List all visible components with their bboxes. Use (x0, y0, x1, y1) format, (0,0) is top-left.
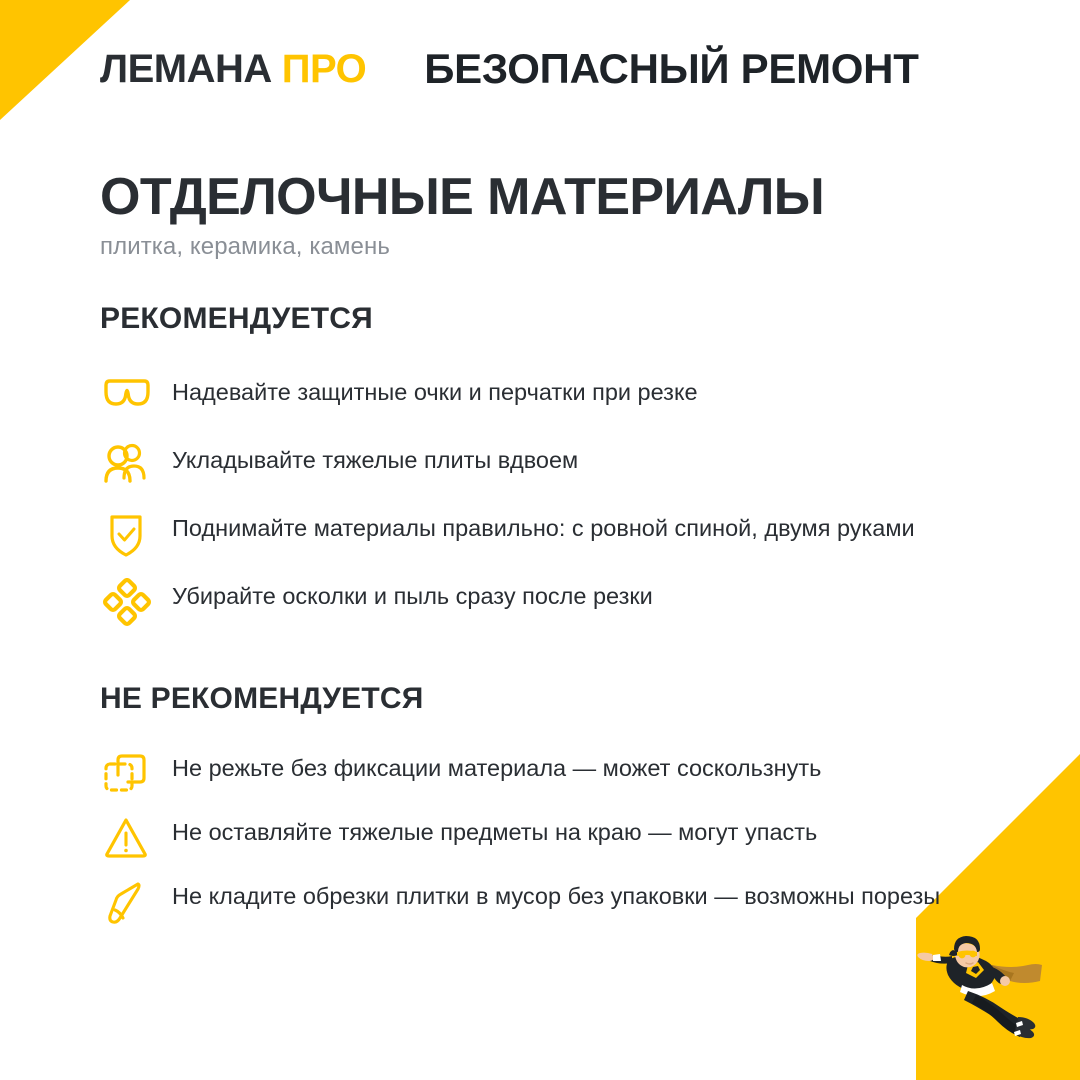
list-item: Не кладите обрезки плитки в мусор без уп… (100, 876, 980, 924)
campaign-title: БЕЗОПАСНЫЙ РЕМОНТ (424, 45, 918, 93)
knife-icon (100, 876, 172, 924)
header: ЛЕМАНАПРО БЕЗОПАСНЫЙ РЕМОНТ (100, 45, 919, 93)
flying-superhero-mascot (906, 921, 1056, 1046)
list-item-text: Не оставляйте тяжелые предметы на краю —… (172, 812, 817, 849)
list-item: Не оставляйте тяжелые предметы на краю —… (100, 812, 980, 860)
poster-canvas: ЛЕМАНАПРО БЕЗОПАСНЫЙ РЕМОНТ ОТДЕЛОЧНЫЕ М… (0, 0, 1080, 1080)
list-item-text: Не режьте без фиксации материала — может… (172, 748, 821, 785)
list-item: Надевайте защитные очки и перчатки при р… (100, 372, 980, 420)
logo-lemana-text: ЛЕМАНА (100, 47, 272, 91)
not-recommended-list: Не режьте без фиксации материала — может… (100, 748, 980, 940)
unfixed-selection-icon (100, 748, 172, 796)
list-item: Убирайте осколки и пыль сразу после резк… (100, 576, 980, 624)
list-item: Поднимайте материалы правильно: с ровной… (100, 508, 980, 556)
list-item-text: Убирайте осколки и пыль сразу после резк… (172, 576, 653, 613)
warning-triangle-icon (100, 812, 172, 860)
two-people-icon (100, 440, 172, 488)
list-item-text: Не кладите обрезки плитки в мусор без уп… (172, 876, 940, 913)
page-subtitle: плитка, керамика, камень (100, 233, 390, 261)
section-heading-not-recommended: НЕ РЕКОМЕНДУЕТСЯ (100, 682, 424, 716)
logo-pro-text: ПРО (282, 47, 367, 91)
brand-logo: ЛЕМАНАПРО (100, 47, 366, 92)
section-heading-recommended: РЕКОМЕНДУЕТСЯ (100, 302, 373, 336)
list-item-text: Поднимайте материалы правильно: с ровной… (172, 508, 915, 545)
four-diamonds-icon (100, 576, 172, 624)
page-title: ОТДЕЛОЧНЫЕ МАТЕРИАЛЫ (100, 170, 824, 225)
recommended-list: Надевайте защитные очки и перчатки при р… (100, 372, 980, 644)
list-item-text: Надевайте защитные очки и перчатки при р… (172, 372, 698, 409)
list-item-text: Укладывайте тяжелые плиты вдвоем (172, 440, 578, 477)
list-item: Укладывайте тяжелые плиты вдвоем (100, 440, 980, 488)
shield-check-icon (100, 508, 172, 556)
list-item: Не режьте без фиксации материала — может… (100, 748, 980, 796)
safety-goggles-icon (100, 372, 172, 420)
